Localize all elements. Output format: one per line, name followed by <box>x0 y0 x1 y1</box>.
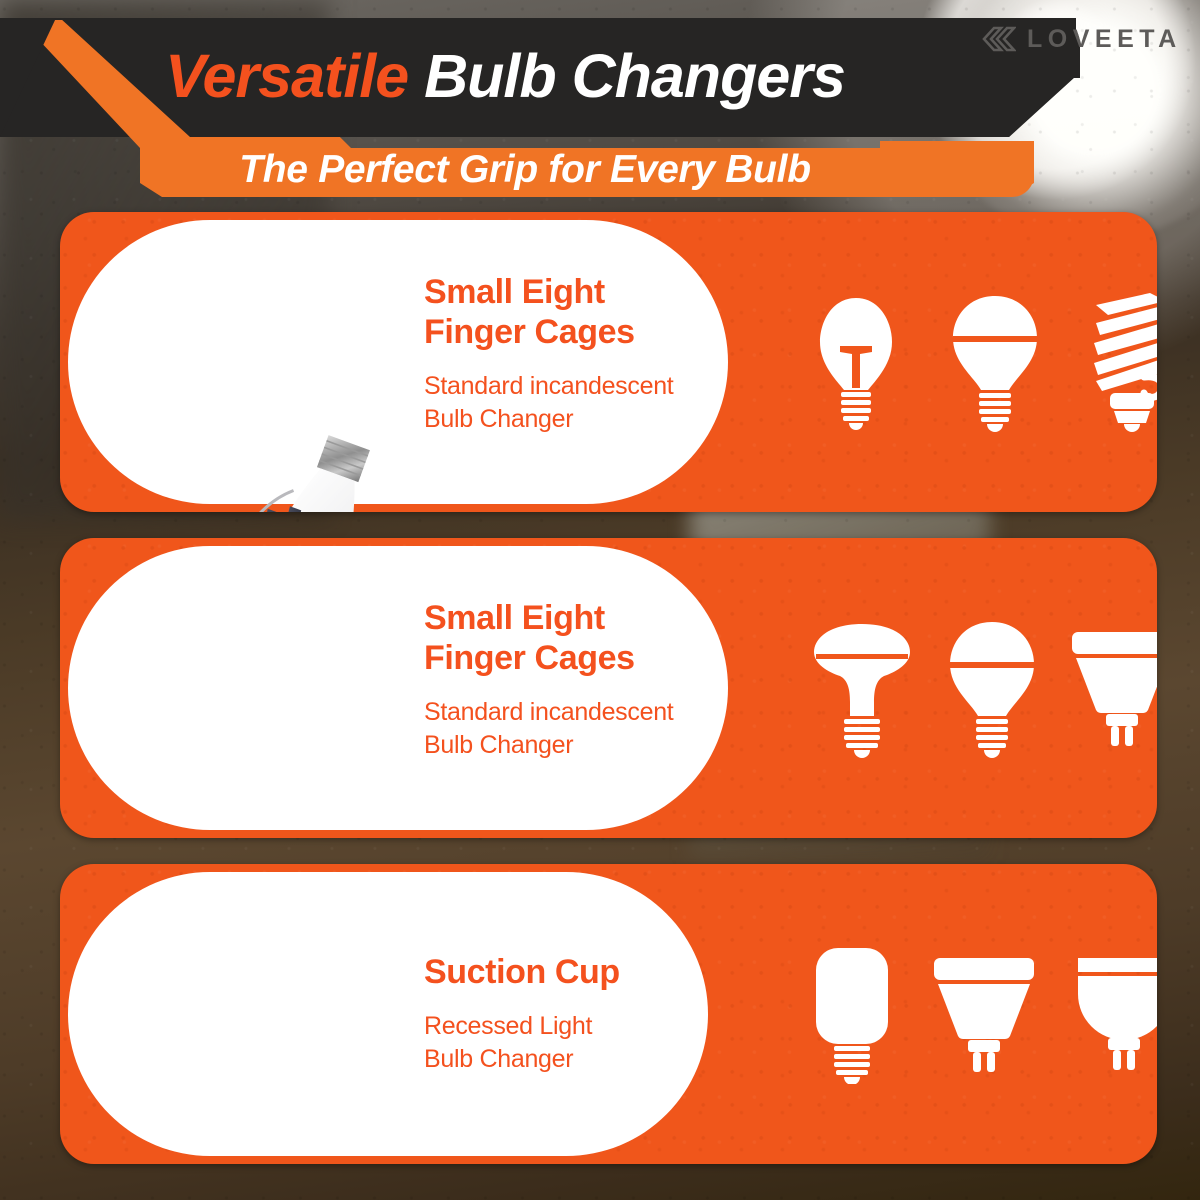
incandescent-bulb-icon <box>810 292 902 432</box>
brand-logo: LOVEETA <box>982 24 1182 54</box>
cylindrical-t-bulb-icon <box>810 944 894 1084</box>
double-chevron-icon <box>982 24 1016 54</box>
card-1-heading-line1: Small Eight <box>424 272 754 312</box>
card-3-bulb-icons <box>780 864 1157 1164</box>
card-2-text-block: Small Eight Finger Cages Standard incand… <box>424 598 754 761</box>
card-2-heading-line2: Finger Cages <box>424 638 754 678</box>
product-card-1[interactable]: Small Eight Finger Cages Standard incand… <box>60 212 1157 512</box>
card-3-subtext-line2: Bulb Changer <box>424 1043 754 1076</box>
card-1-subtext: Standard incandescent Bulb Changer <box>424 370 754 435</box>
card-2-subtext-line1: Standard incandescent <box>424 696 754 729</box>
card-3-heading: Suction Cup <box>424 952 754 992</box>
product-card-2[interactable]: Small Eight Finger Cages Standard incand… <box>60 538 1157 838</box>
card-2-bulb-icons <box>780 538 1157 838</box>
product-card-3[interactable]: Suction Cup Recessed Light Bulb Changer <box>60 864 1157 1164</box>
mr16-rounded-bulb-icon <box>1074 952 1157 1076</box>
page-subtitle: The Perfect Grip for Every Bulb <box>0 148 1050 192</box>
brand-name: LOVEETA <box>1027 25 1182 54</box>
mr16-flood-bulb-icon <box>1070 626 1157 750</box>
a-shape-led-bulb-icon <box>945 292 1045 432</box>
card-1-heading: Small Eight Finger Cages <box>424 272 754 352</box>
card-1-text-block: Small Eight Finger Cages Standard incand… <box>424 272 754 435</box>
card-2-subtext: Standard incandescent Bulb Changer <box>424 696 754 761</box>
card-3-heading-line1: Suction Cup <box>424 952 754 992</box>
reflector-br-bulb-icon <box>810 618 914 758</box>
title-accent-word: Versatile <box>165 42 408 110</box>
a-shape-led-bulb-icon <box>942 618 1042 758</box>
card-1-bulb-icons <box>780 212 1157 512</box>
spiral-cfl-bulb-icon <box>1088 291 1157 433</box>
card-3-subtext-line1: Recessed Light <box>424 1010 754 1043</box>
mr16-flood-bulb-icon <box>932 952 1036 1076</box>
card-2-heading-line1: Small Eight <box>424 598 754 638</box>
page-title: Versatile Bulb Changers <box>0 46 1010 107</box>
card-2-subtext-line2: Bulb Changer <box>424 729 754 762</box>
card-2-heading: Small Eight Finger Cages <box>424 598 754 678</box>
card-3-text-block: Suction Cup Recessed Light Bulb Changer <box>424 952 754 1075</box>
product-image-1 <box>160 428 440 512</box>
infographic-canvas: Versatile Bulb Changers The Perfect Grip… <box>0 0 1200 1200</box>
card-1-subtext-line2: Bulb Changer <box>424 403 754 436</box>
card-3-subtext: Recessed Light Bulb Changer <box>424 1010 754 1075</box>
title-main-words: Bulb Changers <box>424 42 845 110</box>
card-1-subtext-line1: Standard incandescent <box>424 370 754 403</box>
card-1-heading-line2: Finger Cages <box>424 312 754 352</box>
